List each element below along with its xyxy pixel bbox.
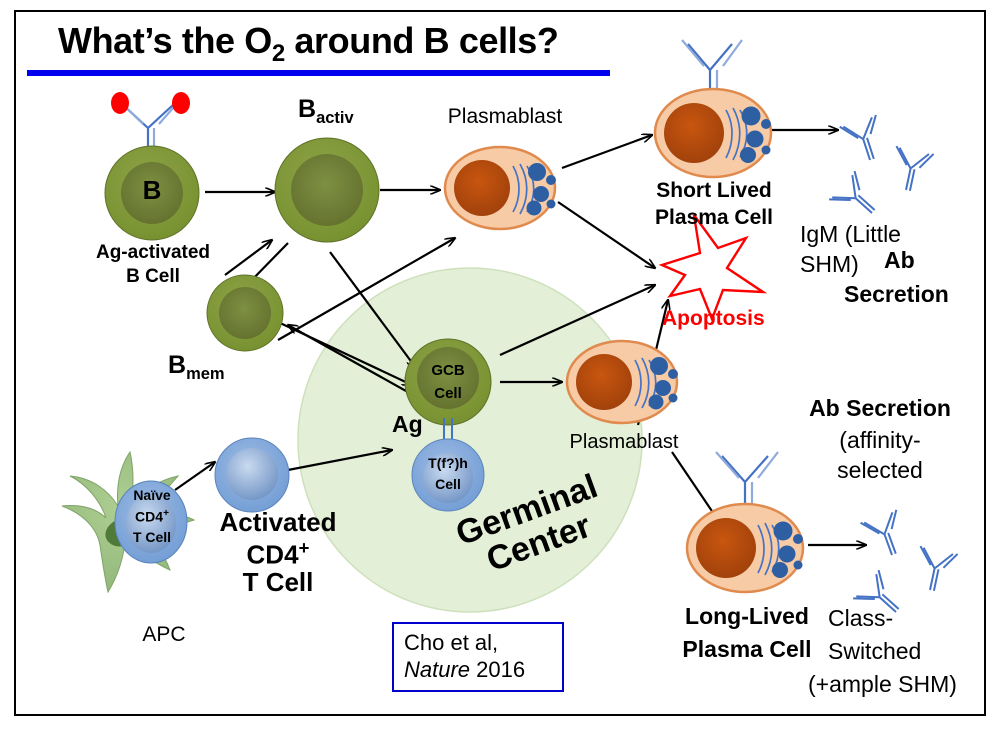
tfh-label-line1: T(f?)h bbox=[412, 455, 484, 472]
citation-line1: Cho et al, bbox=[404, 630, 562, 657]
cell-plasmablast-gc bbox=[567, 341, 678, 423]
naive-t-label-line1: Naïve bbox=[116, 487, 188, 504]
ag-label: Ag bbox=[392, 412, 423, 437]
class-switched-line1: Class- bbox=[828, 606, 893, 631]
b-activ-label: Bactiv bbox=[298, 96, 354, 128]
antigen-dot-right bbox=[172, 92, 190, 114]
activated-t-caption-line2: CD4+ bbox=[196, 538, 360, 569]
apoptosis-star-icon bbox=[662, 215, 763, 319]
cell-b-activated bbox=[105, 92, 199, 240]
gcb-label-line2: Cell bbox=[418, 385, 478, 402]
apoptosis-label: Apoptosis bbox=[662, 307, 765, 331]
cell-short-lived-plasma bbox=[655, 40, 771, 177]
cell-activated-cd4-t bbox=[215, 438, 289, 512]
cell-plasmablast-top bbox=[445, 147, 556, 229]
cell-b-activ bbox=[275, 138, 379, 242]
ab-secretion-right-line1: Ab Secretion bbox=[780, 396, 980, 421]
citation-year: 2016 bbox=[470, 657, 525, 682]
long-lived-caption-line1: Long-Lived bbox=[652, 604, 842, 629]
tfh-label-line2: Cell bbox=[412, 476, 484, 493]
long-lived-caption-line2: Plasma Cell bbox=[652, 637, 842, 662]
ab-secretion-right-line3: selected bbox=[780, 458, 980, 483]
naive-t-label-line3: T Cell bbox=[116, 529, 188, 546]
slide-canvas: What’s the O2 around B cells? bbox=[0, 0, 1000, 732]
secreted-antibodies-igm bbox=[829, 115, 933, 227]
activated-t-caption-line3: T Cell bbox=[196, 568, 360, 596]
ab-secretion-label-line1: Ab bbox=[884, 248, 915, 273]
plasmablast-gc-caption: Plasmablast bbox=[551, 432, 697, 454]
activated-t-caption-line1: Activated bbox=[196, 508, 360, 536]
class-switched-line2: Switched bbox=[828, 639, 921, 664]
naive-t-label-line2: CD4+ bbox=[116, 508, 188, 525]
short-lived-caption-line1: Short Lived bbox=[630, 180, 798, 203]
cell-tfh bbox=[412, 439, 484, 511]
arrow-naivet-to-activatedt bbox=[175, 462, 215, 490]
citation-line2: Nature 2016 bbox=[404, 657, 562, 684]
igm-label-line2: SHM) bbox=[800, 252, 859, 277]
b-cell-caption-line2: B Cell bbox=[82, 267, 224, 288]
arrow-bmem-to-bactiv bbox=[225, 240, 272, 275]
arrow-plasmablast-to-shortlived bbox=[562, 135, 652, 168]
b-cell-inner-label: B bbox=[132, 176, 172, 204]
gcb-label-line1: GCB bbox=[418, 362, 478, 379]
b-cell-caption-line1: Ag-activated bbox=[82, 243, 224, 264]
short-lived-caption-line2: Plasma Cell bbox=[630, 207, 798, 230]
antigen-dot-left bbox=[111, 92, 129, 114]
b-mem-label: Bmem bbox=[168, 352, 225, 384]
ab-secretion-label-line2: Secretion bbox=[844, 282, 949, 307]
igm-label-line1: IgM (Little bbox=[800, 222, 901, 247]
apc-caption: APC bbox=[124, 624, 204, 647]
citation-box: Cho et al, Nature 2016 bbox=[392, 622, 564, 692]
citation-journal: Nature bbox=[404, 657, 470, 682]
ab-secretion-right-line2: (affinity- bbox=[780, 428, 980, 453]
arrow-plasmablast-to-longlived bbox=[672, 452, 718, 520]
plasmablast-top-caption: Plasmablast bbox=[432, 106, 578, 129]
class-switched-line3: (+ample SHM) bbox=[808, 672, 957, 697]
